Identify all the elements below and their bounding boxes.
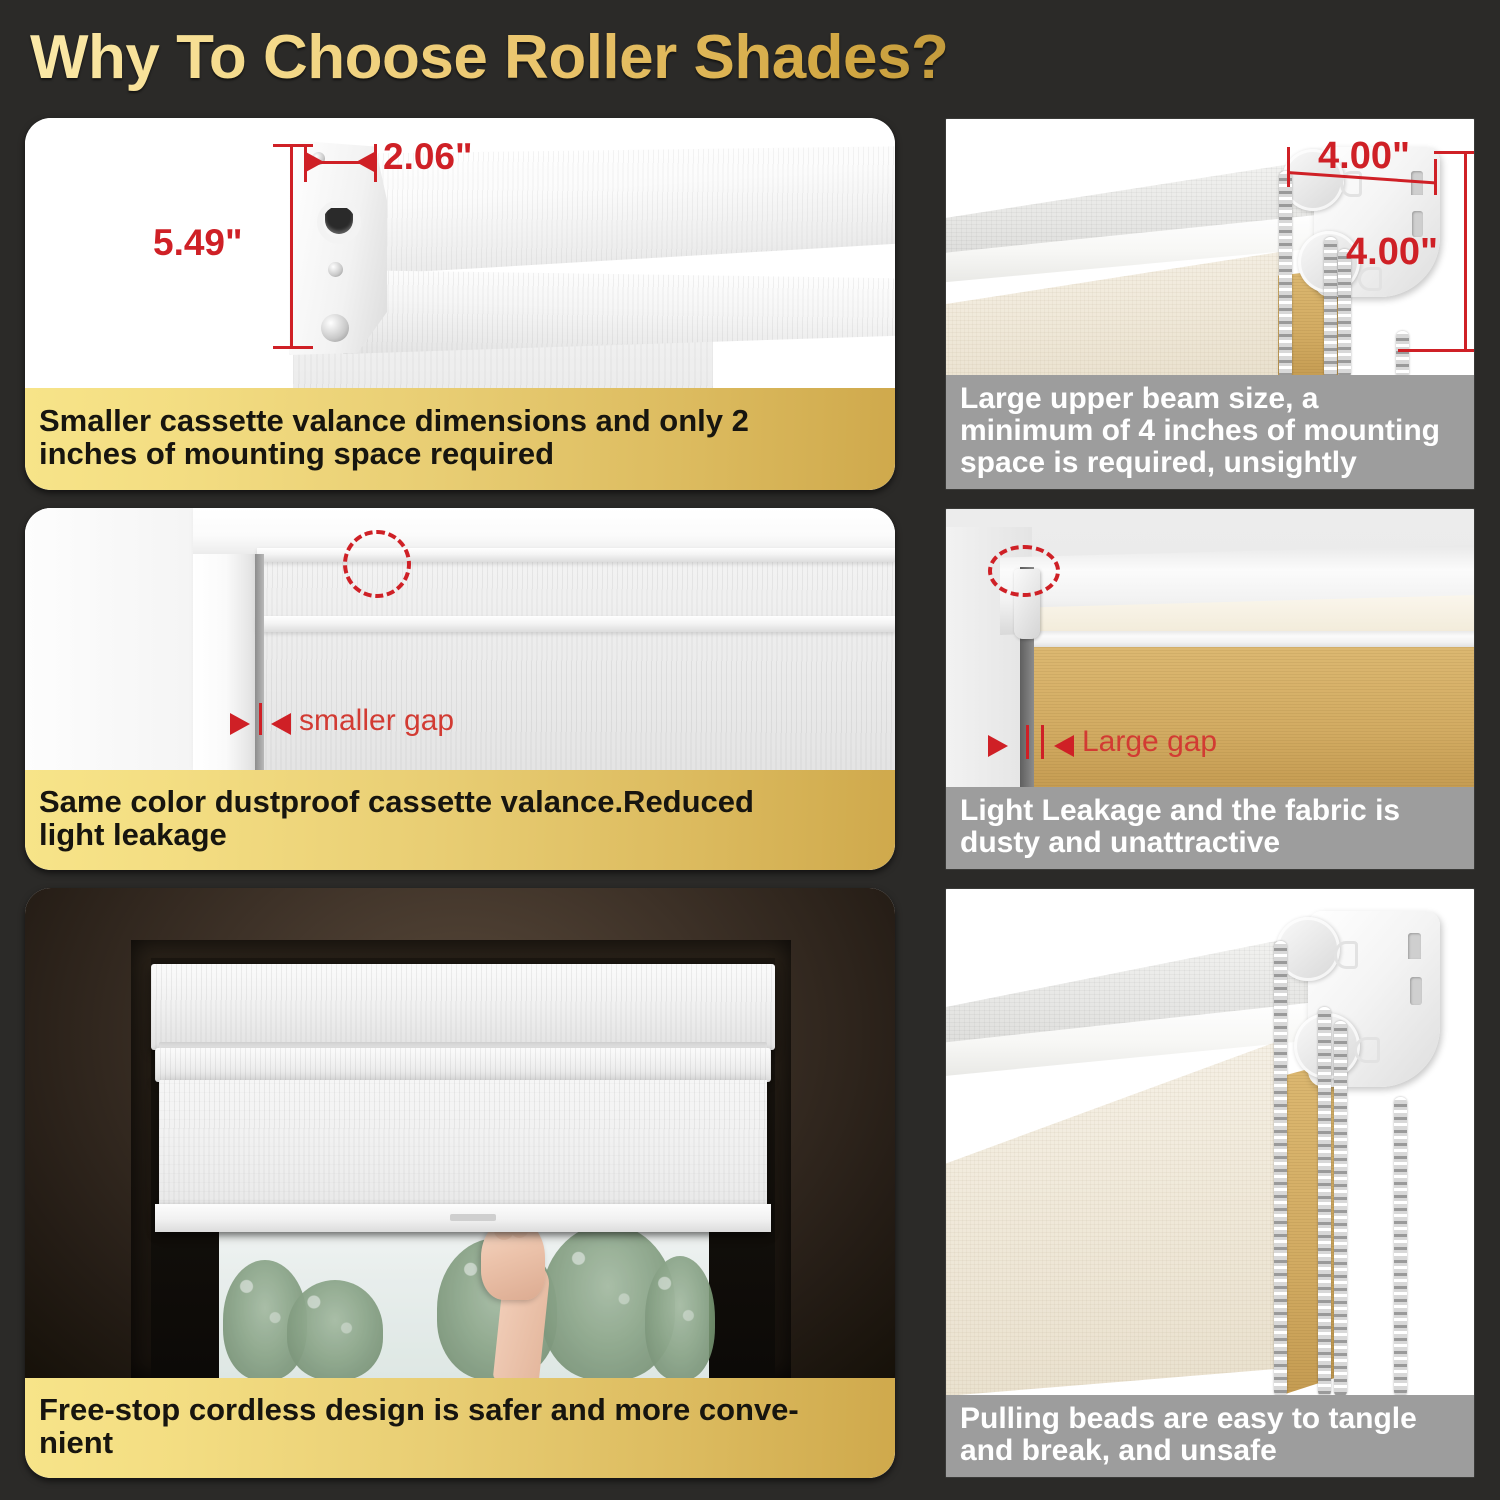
page-title: Why To Choose Roller Shades? [30, 22, 948, 93]
light-leakage-photo: Large gap [946, 509, 1474, 789]
beam-height-label: 4.00" [1346, 231, 1438, 274]
caption-cassette-dimensions: Smaller cassette valance dimensions and … [25, 388, 895, 490]
bead-chain-4 [1396, 331, 1409, 377]
beam-height-line [1464, 151, 1467, 351]
endcap-slot-upper [1408, 933, 1421, 959]
caption-line-2: dusty and unattractive [960, 827, 1280, 859]
beam-height-tick-top [1434, 151, 1474, 154]
caption-line-2: nient [39, 1427, 113, 1460]
caption-line-1: Large upper beam size, a [960, 383, 1318, 415]
cordless-design-photo [25, 888, 895, 1378]
caption-line-1: Same color dustproof cassette valance.Re… [39, 786, 754, 819]
beam-width-tick-right [1434, 159, 1437, 195]
beam-width-label: 4.00" [1318, 135, 1410, 178]
bead-chain-1 [1274, 941, 1287, 1397]
panel-light-leakage: Large gap Light Leakage and the fabric i… [945, 508, 1475, 870]
gap-arrow-right [271, 713, 291, 735]
bead-chain-4 [1394, 1097, 1407, 1397]
gap-arrow-left [230, 713, 250, 735]
caption-dustproof-cassette: Same color dustproof cassette valance.Re… [25, 770, 895, 870]
window-glass [219, 1218, 709, 1378]
caption-line-2: light leakage [39, 819, 227, 852]
gap-marker-line [259, 703, 262, 735]
gap-marker-line-b [1041, 725, 1044, 759]
height-dim-line [290, 144, 293, 348]
height-dim-tick-bottom [273, 346, 313, 349]
caption-large-upper-beam: Large upper beam size, a minimum of 4 in… [946, 375, 1474, 489]
endcap-slot-lower [1410, 977, 1422, 1005]
bracket-slot-ring [317, 200, 361, 244]
cassette-valance [151, 964, 775, 1050]
gap-column [255, 554, 264, 770]
caption-line-1: Light Leakage and the fabric is [960, 795, 1400, 827]
width-dim-arrow-left [304, 151, 324, 173]
large-upper-beam-photo: 4.00" 4.00" [946, 119, 1474, 377]
panel-cordless-design: Free-stop cordless design is safer and m… [25, 888, 895, 1478]
smaller-gap-label: smaller gap [299, 704, 454, 738]
beam-height-tick-bottom [1398, 349, 1474, 352]
cassette-mid-rail [257, 616, 895, 632]
caption-line-2: and break, and unsafe [960, 1435, 1277, 1467]
highlight-circle [343, 530, 411, 598]
fabric-cream [946, 1039, 1284, 1397]
fabric-tan-dusty [1032, 647, 1474, 789]
endcap-mark-upper [1334, 941, 1358, 969]
highlight-circle [988, 545, 1060, 597]
gap-arrow-right [1054, 735, 1074, 757]
caption-pulling-beads: Pulling beads are easy to tangle and bre… [946, 1395, 1474, 1477]
pull-tab [450, 1214, 496, 1221]
caption-light-leakage: Light Leakage and the fabric is dusty an… [946, 787, 1474, 869]
width-dim-arrow-right [356, 151, 376, 173]
pulling-beads-photo [946, 889, 1474, 1397]
gap-marker-line-a [1026, 725, 1029, 759]
panel-pulling-beads: Pulling beads are easy to tangle and bre… [945, 888, 1475, 1478]
infographic-root: Why To Choose Roller Shades? 2.06" [0, 0, 1500, 1500]
bead-chain-2 [1318, 1007, 1331, 1397]
endcap-mark-lower [1354, 1037, 1380, 1063]
gap-arrow-left [988, 735, 1008, 757]
height-dim-tick-top [273, 144, 313, 147]
caption-line-2: minimum of 4 inches of mounting [960, 415, 1440, 447]
caption-line-3: space is required, unsightly [960, 447, 1357, 479]
caption-line-2: inches of mounting space required [39, 438, 554, 471]
width-dimension-label: 2.06" [383, 136, 473, 178]
dustproof-cassette-photo: smaller gap [25, 508, 895, 770]
caption-cordless-design: Free-stop cordless design is safer and m… [25, 1378, 895, 1478]
panel-dustproof-cassette: smaller gap Same color dustproof cassett… [25, 508, 895, 870]
cassette-dimensions-photo: 2.06" 5.49" [25, 118, 895, 388]
bracket-screw-lower [321, 314, 349, 342]
large-gap-label: Large gap [1082, 725, 1217, 759]
panel-cassette-dimensions: 2.06" 5.49" Smaller cassette valance dim… [25, 118, 895, 490]
bead-chain-3 [1334, 1021, 1347, 1397]
cassette-roller-lip [343, 270, 895, 354]
caption-line-1: Smaller cassette valance dimensions and … [39, 405, 749, 438]
panel-large-upper-beam: 4.00" 4.00" Large upper beam size, a min… [945, 118, 1475, 490]
height-dimension-label: 5.49" [153, 222, 243, 264]
bead-chain-2 [1324, 237, 1337, 377]
bracket-screw-upper [328, 262, 343, 277]
caption-line-1: Free-stop cordless design is safer and m… [39, 1394, 799, 1427]
beam-width-tick-left [1287, 147, 1290, 187]
bead-chain-1 [1279, 171, 1292, 377]
caption-line-1: Pulling beads are easy to tangle [960, 1403, 1417, 1435]
valance-lower-lip [155, 1048, 771, 1082]
